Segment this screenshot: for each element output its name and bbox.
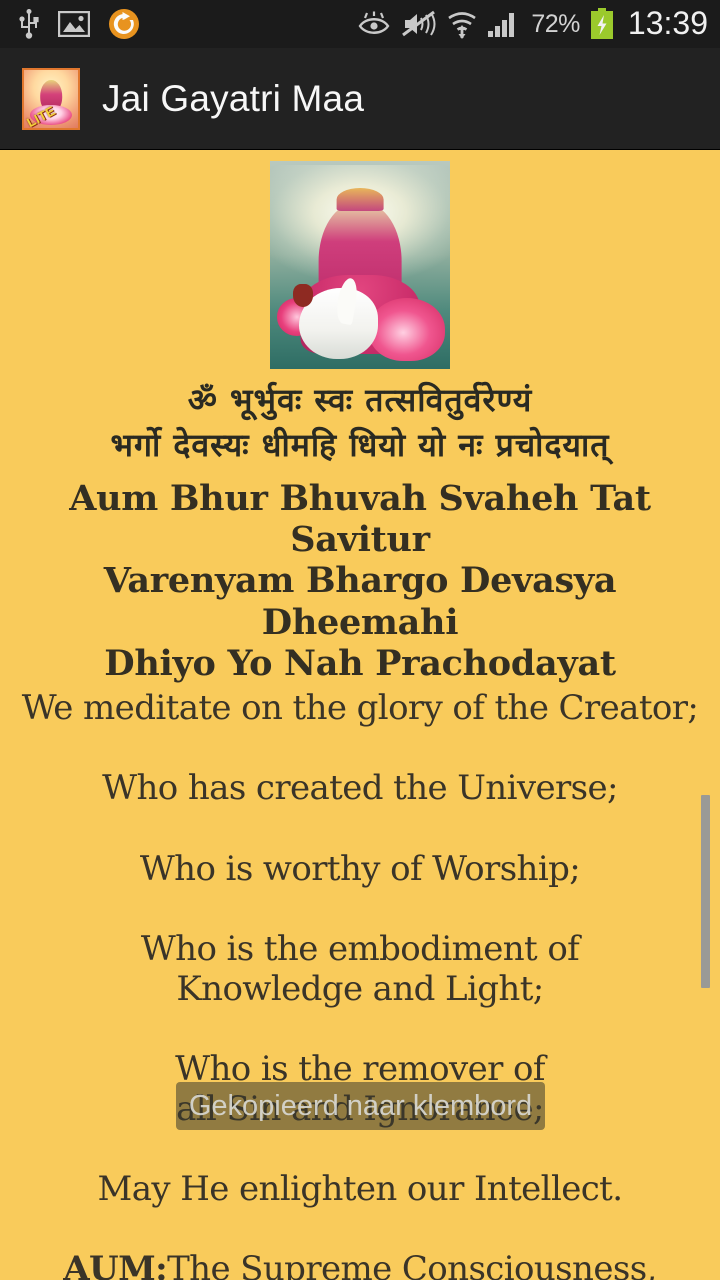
status-bar-clock: 13:39 [628, 7, 708, 41]
toast-notification: Gekopieerd naar klembord [176, 1082, 545, 1130]
app-screen: 72% 13:39 LITE Jai Gayatri Maa [0, 0, 720, 1280]
app-icon[interactable]: LITE [22, 68, 80, 130]
spacer [0, 889, 720, 929]
sync-circle-icon [108, 8, 140, 40]
lotus-right-icon [369, 298, 445, 360]
meaning-line-5: Knowledge and Light; [0, 969, 720, 1009]
status-bar: 72% 13:39 [0, 0, 720, 48]
gallery-image-icon [58, 11, 90, 37]
signal-bars-icon [487, 10, 521, 38]
smart-stay-eye-icon [357, 11, 391, 37]
spacer [0, 1209, 720, 1249]
battery-charging-icon [590, 8, 614, 40]
transliteration-line-1: Aum Bhur Bhuvah Svaheh Tat Savitur [0, 478, 720, 561]
meaning-line-2: Who has created the Universe; [0, 768, 720, 808]
kamandalu-pot-icon [293, 284, 313, 307]
status-bar-left-icons [18, 8, 140, 40]
meaning-line-3: Who is worthy of Worship; [0, 849, 720, 889]
aum-label: AUM: [63, 1249, 167, 1280]
aum-text-1: The Supreme Consciousness, [167, 1249, 657, 1280]
status-bar-right-icons: 72% 13:39 [357, 7, 708, 41]
sound-mute-vibrate-icon [401, 10, 437, 38]
transliteration-line-2: Varenyam Bhargo Devasya Dheemahi [0, 560, 720, 643]
usb-icon [18, 9, 40, 39]
spacer [0, 1009, 720, 1049]
spacer [0, 1129, 720, 1169]
meaning-line-8: May He enlighten our Intellect. [0, 1169, 720, 1209]
wifi-transfer-icon [447, 9, 477, 39]
deity-crown [337, 188, 384, 211]
toast-message: Gekopieerd naar klembord [189, 1092, 532, 1121]
transliteration-block: Aum Bhur Bhuvah Svaheh Tat Savitur Varen… [0, 478, 720, 684]
aum-definition-line-1: AUM:The Supreme Consciousness, [0, 1249, 720, 1280]
meaning-line-4: Who is the embodiment of [0, 929, 720, 969]
transliteration-line-3: Dhiyo Yo Nah Prachodayat [0, 643, 720, 684]
meaning-line-1: We meditate on the glory of the Creator; [0, 688, 720, 728]
deity-image[interactable] [270, 161, 450, 369]
sanskrit-line-2: भर्गो देवस्यः धीमहि धियो यो नः प्रचोदयात… [0, 423, 720, 468]
spacer [0, 728, 720, 768]
sanskrit-block: ॐ भूर्भुवः स्वः तत्सवितुर्वरेण्यं भर्गो … [0, 378, 720, 469]
battery-percent-label: 72% [531, 12, 580, 37]
sanskrit-line-1: ॐ भूर्भुवः स्वः तत्सवितुर्वरेण्यं [0, 378, 720, 423]
spacer [0, 809, 720, 849]
action-bar: LITE Jai Gayatri Maa [0, 48, 720, 150]
meaning-block: We meditate on the glory of the Creator;… [0, 688, 720, 1280]
page-title: Jai Gayatri Maa [102, 78, 364, 120]
